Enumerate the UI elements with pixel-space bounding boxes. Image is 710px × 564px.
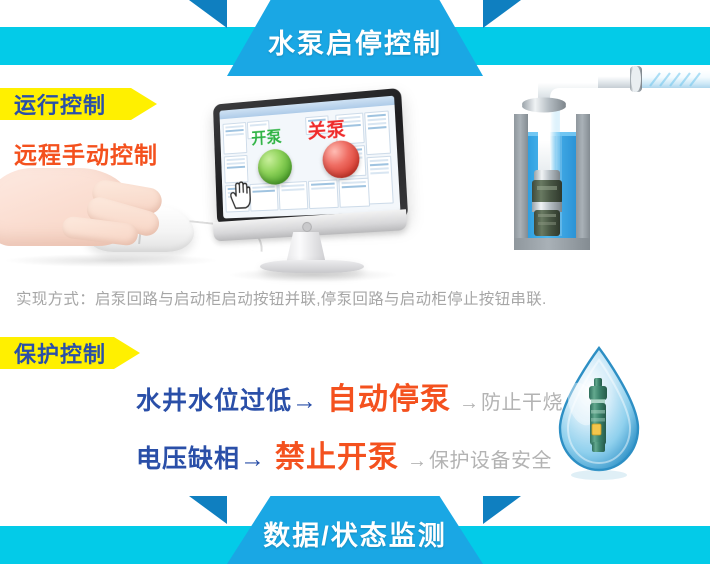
protection-control-tag-label: 保护控制 (0, 337, 106, 369)
rule-result-arrow-icon: → (459, 392, 479, 415)
arrow-tip-icon (114, 337, 140, 369)
rule-arrow-icon: → (240, 445, 265, 474)
desktop-monitor: 开泵 关泵 (200, 96, 415, 278)
protection-rule-row: 水井水位过低 → 自动停泵 → 防止干烧 (136, 374, 563, 418)
water-droplet-with-pump-icon (540, 342, 658, 490)
scada-gauge (366, 156, 393, 205)
scada-tile (223, 122, 248, 155)
rule-result: 保护设备安全 (429, 444, 552, 473)
hand-shadow (6, 254, 216, 267)
hand-pointer-icon (227, 180, 252, 210)
rule-arrow-icon: → (292, 387, 317, 416)
monitor-bezel: 开泵 关泵 (213, 88, 408, 226)
poster-canvas: 水泵启停控制 运行控制 远程手动控制 (0, 0, 710, 564)
protection-rule-row: 电压缺相 → 禁止开泵 → 保护设备安全 (136, 432, 552, 476)
implementation-note: 实现方式：启泵回路与启动柜启动按钮并联,停泵回路与启动柜停止按钮串联. (16, 287, 547, 309)
top-banner-title: 水泵启停控制 (0, 22, 710, 61)
protection-control-tag: 保护控制 (0, 337, 114, 369)
monitor-screen: 开泵 关泵 (219, 96, 400, 219)
bottom-banner-title: 数据/状态监测 (0, 514, 710, 553)
hand-on-mouse-icon (0, 162, 205, 272)
desk-scene: 开泵 关泵 (0, 92, 420, 282)
scada-tile (278, 181, 308, 210)
scada-tile (308, 179, 339, 209)
start-pump-label: 开泵 (251, 123, 283, 149)
rule-action: 自动停泵 (327, 374, 451, 418)
rule-condition: 电压缺相 (136, 439, 240, 475)
scada-tile (249, 183, 278, 212)
monitor-stand-base (260, 260, 364, 273)
scada-gauge (364, 110, 391, 155)
scada-tile (338, 178, 370, 208)
stop-pump-label: 关泵 (307, 114, 347, 144)
scada-tile (224, 155, 249, 184)
rule-result-arrow-icon: → (407, 450, 427, 473)
submersible-pump-in-well-icon (498, 62, 710, 262)
monitor-logo-icon (302, 222, 312, 233)
rule-action: 禁止开泵 (275, 432, 399, 476)
bottom-banner: 数据/状态监测 (0, 496, 710, 564)
start-pump-button[interactable] (257, 148, 292, 186)
rule-condition: 水井水位过低 (136, 381, 292, 417)
